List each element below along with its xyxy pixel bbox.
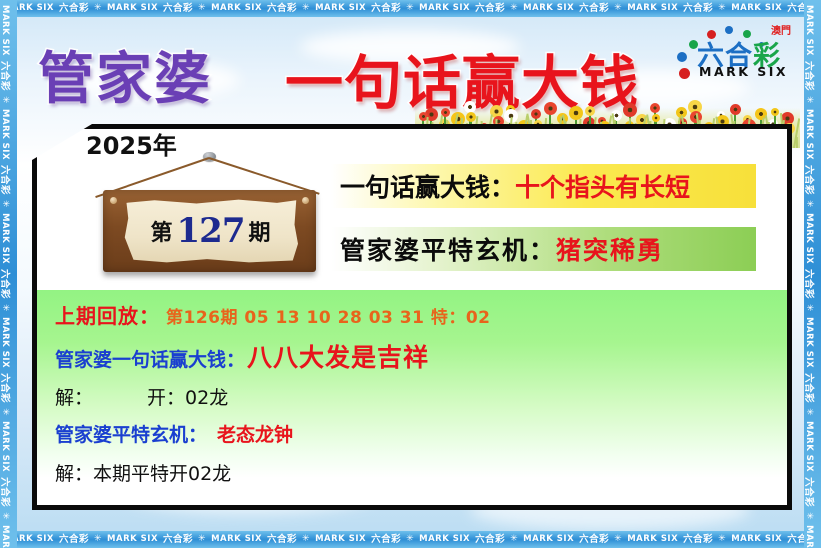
border-ribbon-left: MARK SIX六合彩✳MARK SIX六合彩✳MARK SIX六合彩✳MARK… xyxy=(0,0,17,548)
logo-dot-red2 xyxy=(679,68,690,79)
ribbon-star-icon: ✳ xyxy=(804,200,817,208)
last-draw-label: 上期回放： xyxy=(55,300,160,329)
logo-dot-blue xyxy=(725,26,733,34)
ribbon-star-icon: ✳ xyxy=(0,96,13,104)
issue-paper: 第 127 期 xyxy=(123,199,298,263)
ribbon-star-icon: ✳ xyxy=(302,531,310,548)
answer1-value: 开：02龙 xyxy=(147,383,228,410)
ribbon-star-icon: ✳ xyxy=(198,531,206,548)
page-title-brand: 管家婆 xyxy=(38,34,212,115)
ribbon-token-cn: 六合彩 xyxy=(163,531,193,548)
ribbon-token-en: MARK SIX xyxy=(0,213,13,264)
issue-sign: 第 127 期 xyxy=(103,190,316,272)
logo-dot-blue2 xyxy=(677,52,687,62)
ribbon-token-en: MARK SIX xyxy=(0,525,13,548)
issue-number: 127 xyxy=(177,211,245,251)
ribbon-star-icon: ✳ xyxy=(804,304,817,312)
grass-blade xyxy=(796,137,798,148)
logo-name-en: MARK SIX xyxy=(699,64,788,79)
ribbon-token-cn: 六合彩 xyxy=(0,477,13,507)
ribbon-token-en: MARK SIX xyxy=(804,213,817,264)
ribbon-token-en: MARK SIX xyxy=(627,0,678,17)
ribbon-star-icon: ✳ xyxy=(302,0,310,17)
ribbon-token-en: MARK SIX xyxy=(731,531,782,548)
ribbon-token-cn: 六合彩 xyxy=(0,61,13,91)
ribbon-token-cn: 六合彩 xyxy=(163,0,193,17)
flower-head xyxy=(771,108,779,116)
ribbon-token-cn: 六合彩 xyxy=(804,269,817,299)
flower-head xyxy=(652,114,660,122)
ribbon-star-icon: ✳ xyxy=(718,0,726,17)
issue-prefix: 第 xyxy=(150,215,172,247)
answer1-prefix: 解： xyxy=(55,383,93,410)
ribbon-token-en: MARK SIX xyxy=(419,0,470,17)
ribbon-star-icon: ✳ xyxy=(804,96,817,104)
ribbon-star-icon: ✳ xyxy=(0,512,13,520)
ribbon-token-en: MARK SIX xyxy=(419,531,470,548)
ribbon-star-icon: ✳ xyxy=(406,0,414,17)
issue-suffix: 期 xyxy=(248,215,270,247)
ribbon-token-cn: 六合彩 xyxy=(0,373,13,403)
ribbon-star-icon: ✳ xyxy=(94,0,102,17)
border-ribbon-bottom: MARK SIX六合彩✳MARK SIX六合彩✳MARK SIX六合彩✳MARK… xyxy=(0,531,821,548)
poster-root: MARK SIX六合彩✳MARK SIX六合彩✳MARK SIX六合彩✳MARK… xyxy=(0,0,821,548)
ribbon-token-cn: 六合彩 xyxy=(371,0,401,17)
ribbon-star-icon: ✳ xyxy=(718,531,726,548)
ribbon-token-en: MARK SIX xyxy=(0,317,13,368)
banner-slogan-label: 一句话赢大钱： xyxy=(340,168,515,204)
ribbon-token-cn: 六合彩 xyxy=(804,61,817,91)
ribbon-star-icon: ✳ xyxy=(0,304,13,312)
ribbon-token-cn: 六合彩 xyxy=(475,0,505,17)
banner-xuanji-label: 管家婆平特玄机： xyxy=(340,231,556,267)
flower-head xyxy=(650,103,660,113)
year-label: 2025年 xyxy=(86,126,177,161)
ribbon-token-en: MARK SIX xyxy=(523,531,574,548)
answer2-text: 解：本期平特开02龙 xyxy=(55,459,231,486)
ribbon-token-en: MARK SIX xyxy=(627,531,678,548)
ribbon-star-icon: ✳ xyxy=(510,0,518,17)
border-ribbon-right: MARK SIX六合彩✳MARK SIX六合彩✳MARK SIX六合彩✳MARK… xyxy=(804,0,821,548)
ribbon-token-en: MARK SIX xyxy=(211,531,262,548)
flower-head xyxy=(585,106,595,116)
flower-head xyxy=(623,103,637,117)
ribbon-token-en: MARK SIX xyxy=(804,317,817,368)
ribbon-token-cn: 六合彩 xyxy=(804,477,817,507)
ribbon-token-cn: 六合彩 xyxy=(0,269,13,299)
ribbon-star-icon: ✳ xyxy=(0,408,13,416)
ribbon-star-icon: ✳ xyxy=(406,531,414,548)
row-tip: 管家婆一句话赢大钱： 八八大发是吉祥 xyxy=(55,338,787,374)
ribbon-star-icon: ✳ xyxy=(0,200,13,208)
ribbon-token-en: MARK SIX xyxy=(0,5,13,56)
ribbon-token-en: MARK SIX xyxy=(0,421,13,472)
ribbon-star-icon: ✳ xyxy=(94,531,102,548)
ribbon-token-en: MARK SIX xyxy=(315,531,366,548)
flower-head xyxy=(466,112,476,122)
banner-xuanji-value: 猪突稀勇 xyxy=(556,231,664,267)
row-answer-1: 解： 开：02龙 xyxy=(55,383,787,410)
ribbon-token-cn: 六合彩 xyxy=(804,373,817,403)
ribbon-token-cn: 六合彩 xyxy=(804,165,817,195)
ribbon-token-cn: 六合彩 xyxy=(475,531,505,548)
row-last-draw: 上期回放： 第126期 05 13 10 28 03 31 特：02 xyxy=(55,300,787,329)
ribbon-token-cn: 六合彩 xyxy=(0,165,13,195)
ribbon-token-cn: 六合彩 xyxy=(683,531,713,548)
ribbon-token-cn: 六合彩 xyxy=(267,0,297,17)
ribbon-token-en: MARK SIX xyxy=(0,109,13,160)
border-ribbon-top: MARK SIX六合彩✳MARK SIX六合彩✳MARK SIX六合彩✳MARK… xyxy=(0,0,821,17)
tip-label: 管家婆一句话赢大钱： xyxy=(55,345,245,372)
ribbon-star-icon: ✳ xyxy=(614,0,622,17)
row-xuanji: 管家婆平特玄机： 老态龙钟 xyxy=(55,420,787,447)
ribbon-star-icon: ✳ xyxy=(804,512,817,520)
ribbon-token-cn: 六合彩 xyxy=(59,0,89,17)
ribbon-token-cn: 六合彩 xyxy=(683,0,713,17)
banner-slogan-value: 十个指头有长短 xyxy=(515,168,690,204)
flower-head xyxy=(531,109,541,119)
ribbon-token-en: MARK SIX xyxy=(107,531,158,548)
ribbon-star-icon: ✳ xyxy=(614,531,622,548)
flower-head xyxy=(544,102,557,115)
ribbon-token-en: MARK SIX xyxy=(315,0,366,17)
ribbon-token-en: MARK SIX xyxy=(211,0,262,17)
ribbon-token-en: MARK SIX xyxy=(804,525,817,548)
row-answer-2: 解：本期平特开02龙 xyxy=(55,459,787,486)
mark-six-logo: 澳門 六合彩 MARK SIX xyxy=(673,22,793,84)
ribbon-token-cn: 六合彩 xyxy=(371,531,401,548)
ribbon-token-cn: 六合彩 xyxy=(579,0,609,17)
ribbon-star-icon: ✳ xyxy=(198,0,206,17)
ribbon-token-en: MARK SIX xyxy=(804,109,817,160)
ribbon-star-icon: ✳ xyxy=(510,531,518,548)
last-draw-numbers: 第126期 05 13 10 28 03 31 特：02 xyxy=(166,303,491,328)
flower-head xyxy=(569,106,583,120)
ribbon-token-cn: 六合彩 xyxy=(579,531,609,548)
ribbon-star-icon: ✳ xyxy=(804,408,817,416)
xuanji-label: 管家婆平特玄机： xyxy=(55,420,207,447)
content-area: 上期回放： 第126期 05 13 10 28 03 31 特：02 管家婆一句… xyxy=(37,290,787,478)
ribbon-token-cn: 六合彩 xyxy=(267,531,297,548)
ribbon-token-en: MARK SIX xyxy=(731,0,782,17)
banner-xuanji: 管家婆平特玄机：猪突稀勇 xyxy=(331,227,756,271)
tip-value: 八八大发是吉祥 xyxy=(247,338,429,374)
ribbon-token-cn: 六合彩 xyxy=(59,531,89,548)
ribbon-token-en: MARK SIX xyxy=(107,0,158,17)
ribbon-token-en: MARK SIX xyxy=(804,421,817,472)
xuanji-value: 老态龙钟 xyxy=(217,420,293,447)
ribbon-token-en: MARK SIX xyxy=(523,0,574,17)
ribbon-token-en: MARK SIX xyxy=(804,5,817,56)
banner-slogan: 一句话赢大钱：十个指头有长短 xyxy=(331,164,756,208)
